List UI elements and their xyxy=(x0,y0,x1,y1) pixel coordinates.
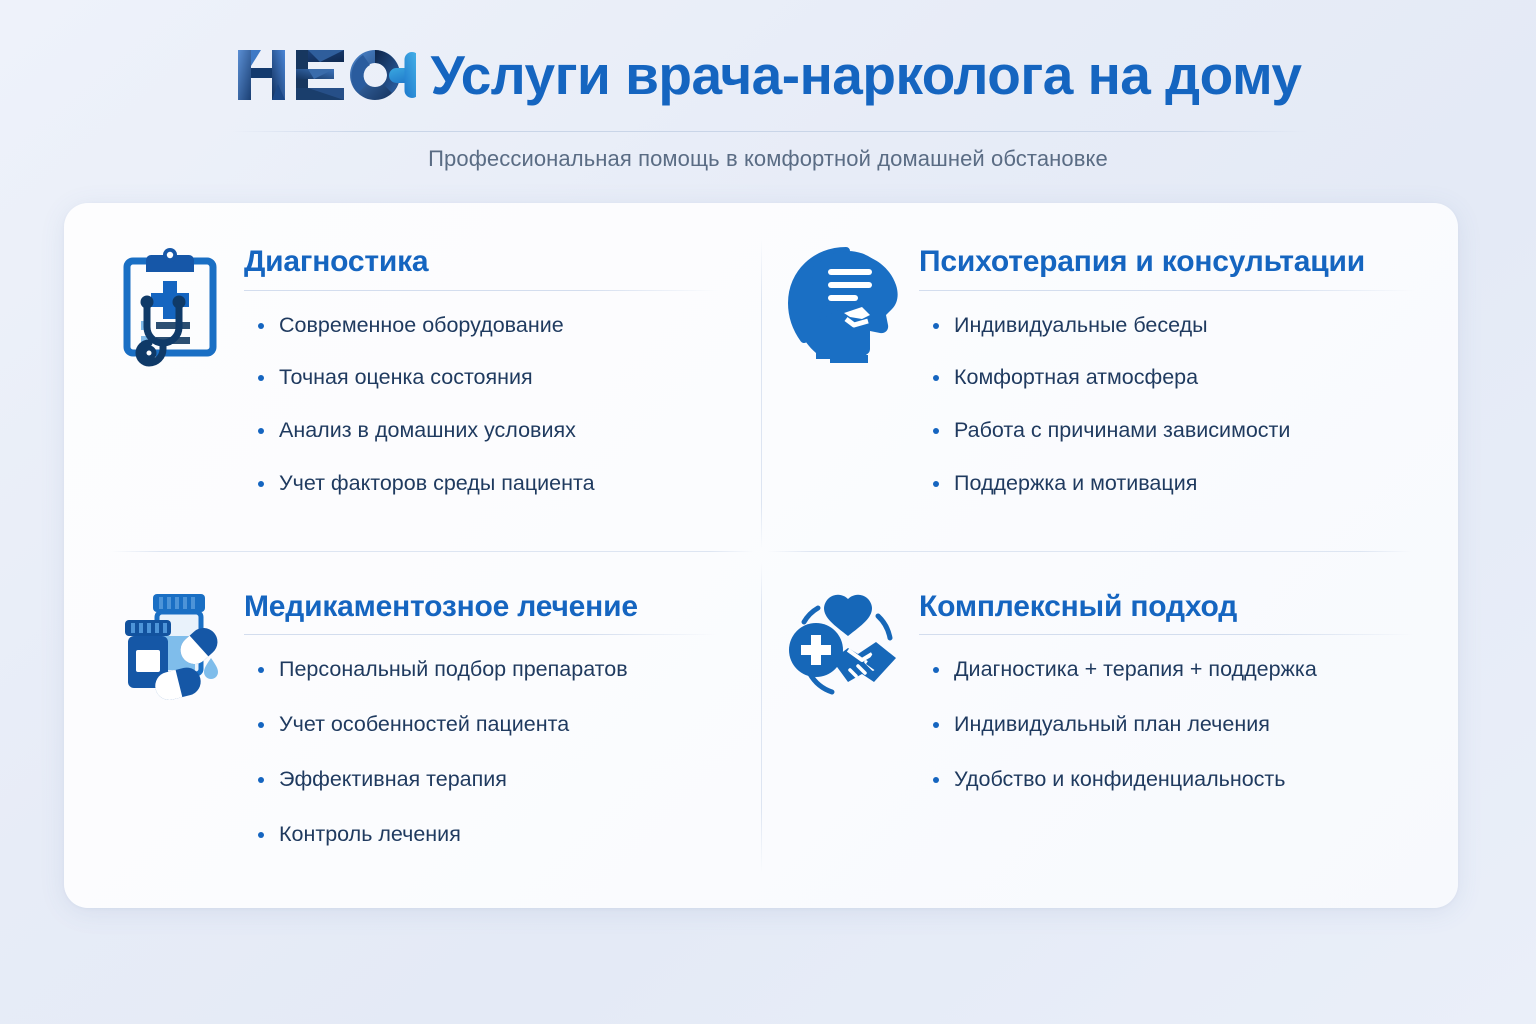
card-body: Медикаментозное лечение Персональный под… xyxy=(244,586,717,899)
list-item: Точная оценка состояния xyxy=(256,364,717,391)
card-medication[interactable]: Медикаментозное лечение Персональный под… xyxy=(64,556,761,909)
clipboard-stethoscope-icon xyxy=(108,243,232,367)
card-title: Комплексный подход xyxy=(919,590,1414,624)
card-body: Диагностика Современное оборудование Точ… xyxy=(244,241,717,546)
card-psychotherapy[interactable]: Психотерапия и консультации Индивидуальн… xyxy=(761,203,1458,556)
list-item: Учет особенностей пациента xyxy=(256,711,717,738)
card-bullet-list: Современное оборудование Точная оценка с… xyxy=(244,291,717,498)
pill-bottles-capsules-icon xyxy=(108,588,232,712)
list-item: Контроль лечения xyxy=(256,821,717,848)
heart-handshake-cross-icon xyxy=(783,588,907,712)
list-item: Современное оборудование xyxy=(256,312,717,339)
card-body: Комплексный подход Диагностика + терапия… xyxy=(919,586,1414,899)
head-speech-bubble-icon xyxy=(783,243,907,367)
page-subtitle: Профессиональная помощь в комфортной дом… xyxy=(0,146,1536,172)
list-item: Поддержка и мотивация xyxy=(931,470,1414,497)
list-item: Диагностика + терапия + поддержка xyxy=(931,656,1414,683)
page-title: Услуги врача-нарколога на дому xyxy=(430,48,1301,103)
list-item: Комфортная атмосфера xyxy=(931,364,1414,391)
list-item: Индивидуальные беседы xyxy=(931,312,1414,339)
infographic-page: Услуги врача-нарколога на дому Профессио… xyxy=(0,0,1536,1024)
card-bullet-list: Индивидуальные беседы Комфортная атмосфе… xyxy=(919,291,1414,498)
card-diagnostics[interactable]: Диагностика Современное оборудование Точ… xyxy=(64,203,761,556)
header-title-row: Услуги врача-нарколога на дому xyxy=(0,44,1536,106)
card-title: Диагностика xyxy=(244,245,717,279)
card-bullet-list: Персональный подбор препаратов Учет особ… xyxy=(244,635,717,848)
card-title: Медикаментозное лечение xyxy=(244,590,717,624)
neo-plus-logo-icon xyxy=(234,44,416,106)
header-divider xyxy=(232,131,1307,132)
list-item: Анализ в домашних условиях xyxy=(256,417,717,444)
list-item: Персональный подбор препаратов xyxy=(256,656,717,683)
list-item: Учет факторов среды пациента xyxy=(256,470,717,497)
list-item: Индивидуальный план лечения xyxy=(931,711,1414,738)
card-bullet-list: Диагностика + терапия + поддержка Индиви… xyxy=(919,635,1414,793)
list-item: Работа с причинами зависимости xyxy=(931,417,1414,444)
cards-grid: Диагностика Современное оборудование Точ… xyxy=(64,203,1458,908)
card-complex-approach[interactable]: Комплексный подход Диагностика + терапия… xyxy=(761,556,1458,909)
header: Услуги врача-нарколога на дому Профессио… xyxy=(0,0,1536,190)
card-body: Психотерапия и консультации Индивидуальн… xyxy=(919,241,1414,546)
list-item: Удобство и конфиденциальность xyxy=(931,766,1414,793)
list-item: Эффективная терапия xyxy=(256,766,717,793)
card-title: Психотерапия и консультации xyxy=(919,245,1414,279)
cards-panel: Диагностика Современное оборудование Точ… xyxy=(64,203,1458,908)
